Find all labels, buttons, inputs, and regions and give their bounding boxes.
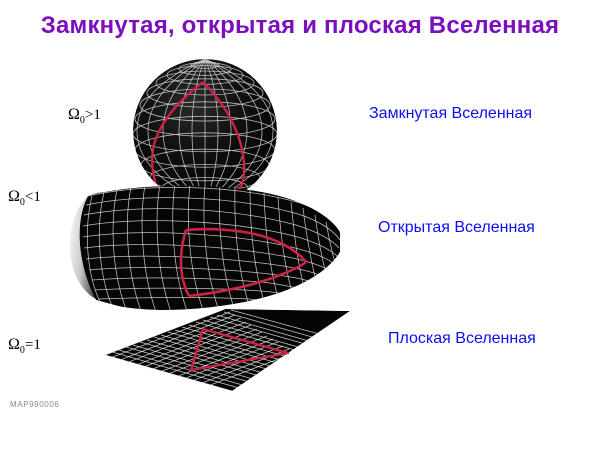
omega-glyph-open: Ω [8, 188, 20, 205]
omega-glyph-flat: Ω [8, 336, 20, 353]
caption-flat-universe: Плоская Вселенная [388, 330, 536, 348]
open-universe-saddle [70, 183, 341, 312]
flat-universe-plane [105, 309, 356, 399]
page-title: Замкнутая, открытая и плоская Вселенная [0, 12, 600, 40]
omega-relation-closed: >1 [85, 107, 101, 123]
omega-glyph-closed: Ω [68, 106, 80, 123]
omega-relation-open: <1 [25, 189, 41, 205]
omega-label-closed: Ω0>1 [68, 106, 101, 126]
omega-label-flat: Ω0=1 [8, 336, 41, 356]
caption-closed-universe: Замкнутая Вселенная [369, 105, 532, 123]
figure-watermark: MAP990006 [10, 400, 59, 409]
slide-canvas: Замкнутая, открытая и плоская Вселенная [0, 0, 600, 450]
closed-universe-sphere [133, 59, 277, 205]
omega-relation-flat: =1 [25, 337, 41, 353]
caption-open-universe: Открытая Вселенная [378, 219, 535, 237]
omega-label-open: Ω0<1 [8, 188, 41, 208]
